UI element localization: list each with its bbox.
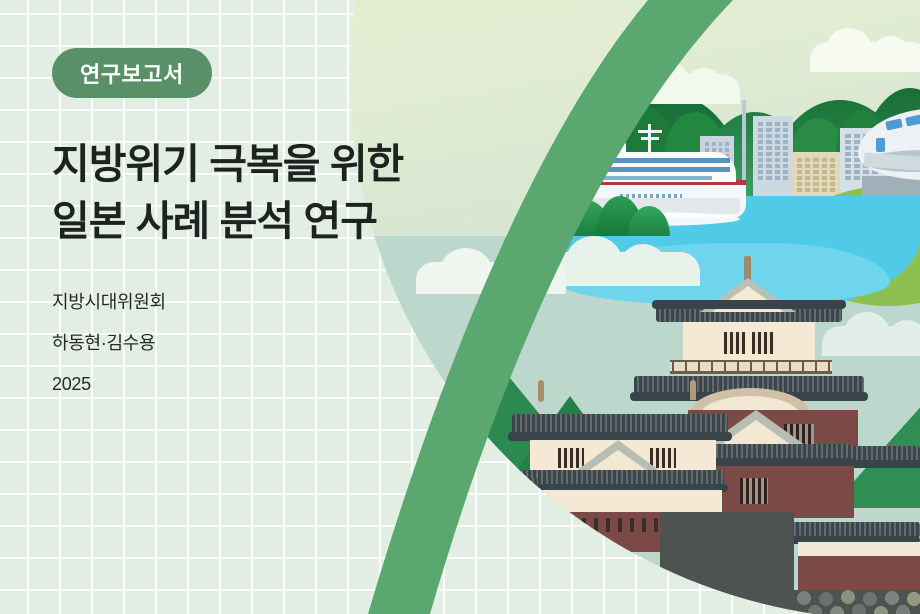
stone-texture	[660, 512, 794, 614]
castle-stone-base-center	[660, 512, 794, 614]
castle-keep-balcony-rail	[672, 362, 830, 373]
author-names: 하동현·김수용	[52, 334, 522, 354]
castle-terrace-upper-wall	[406, 498, 504, 524]
ship-bridge-windows	[568, 146, 612, 152]
cloud-puff	[872, 36, 910, 72]
cloud-puff	[844, 312, 890, 356]
cover-text-column: 연구보고서 지방위기 극복을 위한 일본 사례 분석 연구 지방시대위원회 하동…	[52, 48, 522, 395]
castle-terrace-window	[426, 502, 444, 522]
castle-keep-roof-edge-top	[652, 300, 846, 309]
ship-porthole-row	[620, 194, 682, 198]
publisher-name: 지방시대위원회	[52, 293, 522, 313]
report-type-badge-label: 연구보고서	[80, 57, 184, 89]
castle-terrace-roof-small	[402, 486, 510, 498]
page-title: 지방위기 극복을 위한 일본 사례 분석 연구	[52, 136, 522, 249]
castle-keep-window-lower	[740, 478, 768, 504]
ship-window-band	[560, 167, 730, 172]
cloud-puff	[566, 236, 622, 286]
ship-mast-spar	[638, 130, 662, 133]
castle-keep-finial-small	[690, 380, 696, 400]
airplane-door-window	[876, 138, 885, 152]
castle-wing-finial	[538, 380, 544, 402]
page-title-line-1: 지방위기 극복을 위한	[52, 136, 522, 193]
castle-terrace-rail	[396, 524, 520, 534]
page-title-line-2: 일본 사례 분석 연구	[52, 193, 522, 250]
ship-mast-spar	[641, 137, 659, 140]
ship-funnel	[600, 134, 620, 142]
castle-stone-base-right	[794, 590, 920, 614]
report-type-badge: 연구보고서	[52, 48, 212, 98]
stone-texture	[794, 590, 920, 614]
publication-year: 2025	[52, 375, 522, 395]
cloud-puff	[620, 244, 666, 286]
castle-keep-wall-upper	[683, 322, 815, 364]
cloud-puff	[888, 320, 920, 356]
castle-keep-window	[724, 332, 746, 354]
cloud-puff	[646, 62, 690, 102]
castle-keep-window	[752, 332, 774, 354]
cloud-puff	[686, 68, 722, 102]
ship-window-band	[560, 176, 712, 180]
report-cover: 연구보고서 지방위기 극복을 위한 일본 사례 분석 연구 지방시대위원회 하동…	[0, 0, 920, 614]
publication-meta: 지방시대위원회 하동현·김수용 2025	[52, 293, 522, 394]
castle-stone-base-far-left	[350, 596, 670, 614]
castle-wing-roof	[512, 414, 728, 434]
cloud-puff	[826, 28, 872, 72]
ship-window-band	[560, 158, 730, 163]
